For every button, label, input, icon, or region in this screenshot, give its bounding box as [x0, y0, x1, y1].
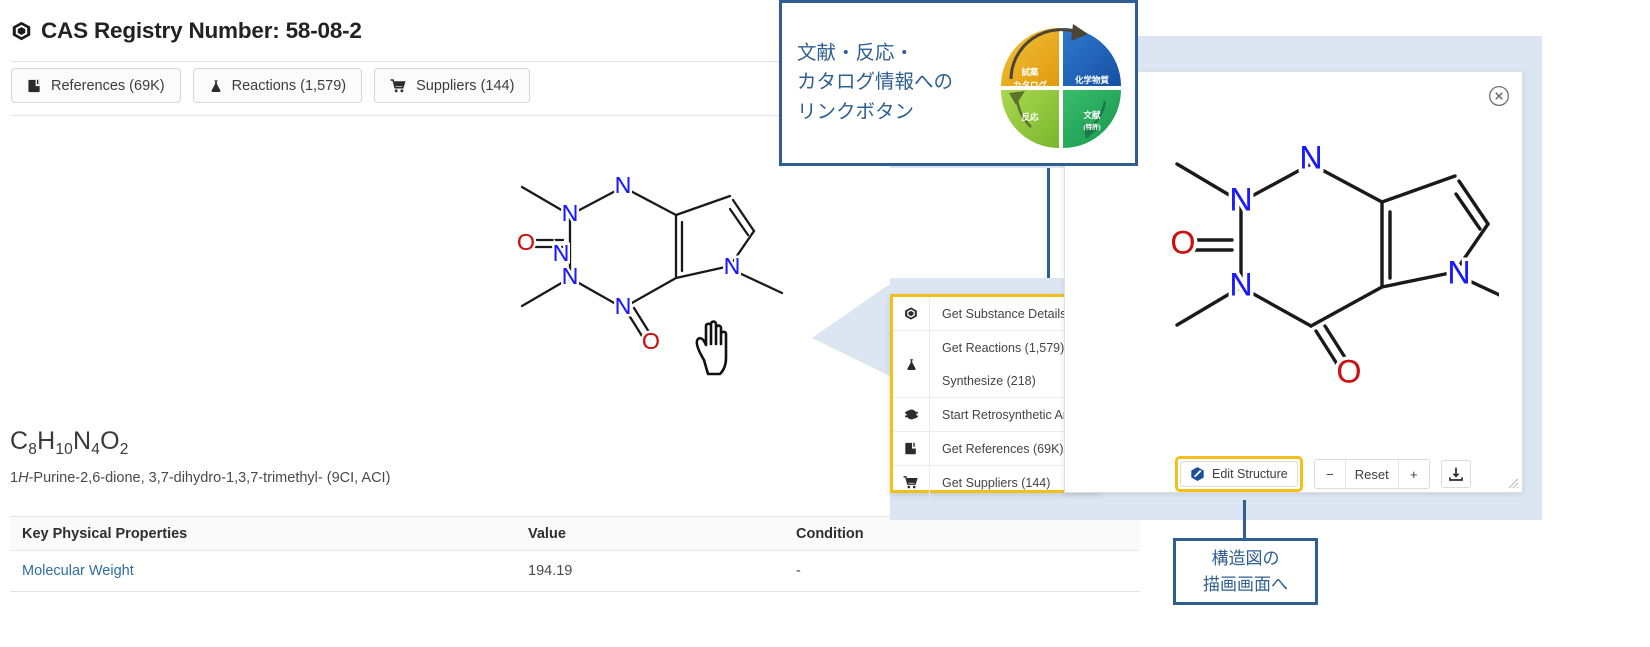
property-condition: - — [796, 563, 1096, 579]
svg-text:化学物質: 化学物質 — [1075, 75, 1110, 85]
annotation-box-top: 文献・反応・ カタログ情報への リンクボタン 試薬 — [779, 0, 1138, 166]
cube-icon — [893, 297, 930, 330]
page-title-row: CAS Registry Number: 58-08-2 — [11, 18, 362, 44]
cas-cube-icon — [11, 20, 32, 42]
flask-icon — [893, 331, 930, 397]
annotation-top-text: 文献・反応・ カタログ情報への リンクボタン — [782, 39, 953, 128]
suppliers-button[interactable]: Suppliers (144) — [374, 68, 530, 103]
references-button[interactable]: References (69K) — [11, 68, 181, 103]
key-physical-properties-table: Key Physical Properties Value Condition … — [10, 516, 1140, 592]
table-row: Molecular Weight 194.19 - — [10, 551, 1140, 591]
zoom-control-group: − Reset + — [1314, 459, 1430, 489]
hand-cursor-icon — [686, 316, 750, 378]
annotation-connector-line-top — [1047, 168, 1050, 278]
download-icon — [1448, 466, 1464, 482]
svg-text:N: N — [724, 253, 741, 279]
zoom-in-button[interactable]: + — [1399, 460, 1429, 488]
edit-structure-highlight: Edit Structure — [1175, 456, 1303, 492]
book-icon — [893, 432, 930, 465]
edit-structure-label: Edit Structure — [1212, 467, 1288, 481]
download-button[interactable] — [1441, 460, 1471, 488]
cart-icon — [893, 466, 930, 499]
iupac-name: 1H-Purine-2,6-dione, 3,7-dihydro-1,3,7-t… — [10, 470, 390, 486]
modal-toolbar: Edit Structure − Reset + — [1175, 456, 1471, 492]
flask-icon — [209, 78, 223, 94]
column-header-property: Key Physical Properties — [10, 526, 528, 542]
svg-text:反応: 反応 — [1021, 112, 1039, 122]
svg-text:O: O — [1171, 224, 1196, 260]
cas-solutions-pie-logo: 試薬 カタログ 化学物質 反応 文献 (特許) — [987, 15, 1135, 157]
svg-text:O: O — [642, 328, 660, 354]
svg-text:(特許): (特許) — [1083, 122, 1100, 131]
svg-text:N: N — [1447, 254, 1470, 290]
action-button-row: References (69K) Reactions (1,579) Suppl… — [11, 68, 530, 103]
edit-pencil-hex-icon — [1190, 466, 1205, 482]
zoom-out-button[interactable]: − — [1315, 460, 1345, 488]
property-name-link[interactable]: Molecular Weight — [10, 563, 528, 579]
reactions-button-label: Reactions (1,579) — [232, 78, 346, 94]
suppliers-button-label: Suppliers (144) — [416, 78, 514, 94]
svg-text:O: O — [517, 229, 535, 255]
cart-icon — [390, 78, 407, 94]
svg-text:N: N — [562, 263, 579, 289]
references-button-label: References (69K) — [51, 78, 165, 94]
annotation-connector-line-bottom — [1243, 500, 1246, 540]
svg-text:N: N — [615, 172, 632, 198]
reactions-button[interactable]: Reactions (1,579) — [193, 68, 362, 103]
molecular-formula: C8H10N4O2 — [10, 427, 129, 456]
column-header-value: Value — [528, 526, 796, 542]
edit-structure-button[interactable]: Edit Structure — [1180, 461, 1298, 487]
page-title: CAS Registry Number: 58-08-2 — [41, 18, 362, 44]
column-header-condition: Condition — [796, 526, 1096, 542]
zoom-reset-button[interactable]: Reset — [1345, 460, 1399, 488]
svg-text:カタログ: カタログ — [1013, 80, 1048, 90]
svg-text:N: N — [1229, 266, 1252, 302]
svg-text:試薬: 試薬 — [1021, 67, 1039, 77]
table-header-row: Key Physical Properties Value Condition — [10, 517, 1140, 551]
annotation-bottom-text: 構造図の 描画画面へ — [1203, 546, 1288, 597]
svg-text:O: O — [1337, 353, 1362, 389]
retro-icon — [893, 398, 930, 431]
svg-text:N: N — [562, 200, 579, 226]
svg-text:N: N — [615, 293, 632, 319]
annotation-box-bottom: 構造図の 描画画面へ — [1173, 538, 1318, 605]
svg-text:N: N — [1299, 139, 1322, 175]
resize-grip-handle[interactable] — [1507, 477, 1519, 489]
svg-text:文献: 文献 — [1083, 110, 1101, 120]
book-icon — [27, 78, 42, 94]
modal-structure-diagram: N N N N N N N N O O O O — [1099, 102, 1499, 457]
svg-text:N: N — [1229, 181, 1252, 217]
property-value: 194.19 — [528, 563, 796, 579]
